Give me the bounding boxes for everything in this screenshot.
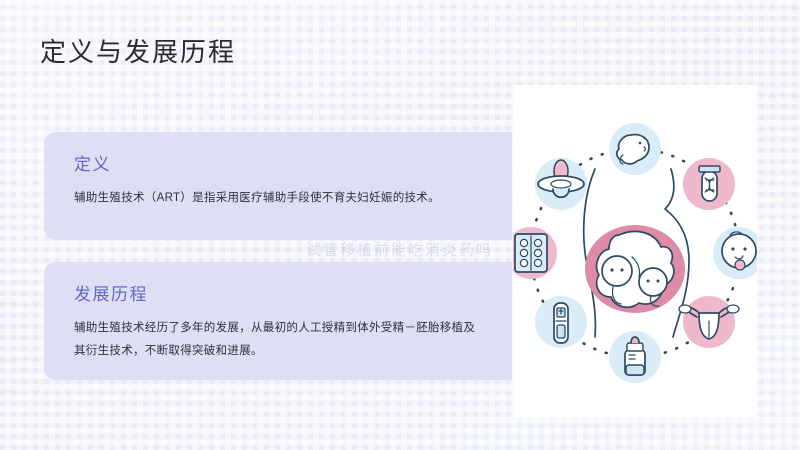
art-cycle-illustration: .ln { fill:none; stroke:#2c4a63; stroke-…: [513, 85, 757, 417]
card-body-history: 辅助生殖技术经历了多年的发展，从最初的人工授精到体外受精－胚胎移植及其衍生技术，…: [74, 317, 482, 363]
fetus-icon: [609, 123, 661, 175]
uterus-icon: [679, 296, 739, 348]
pregnancy-test-icon: [535, 296, 587, 348]
pregnant-belly-icon: [584, 169, 689, 337]
illustration-panel: .ln { fill:none; stroke:#2c4a63; stroke-…: [513, 85, 757, 417]
pill-blister-icon: [513, 227, 557, 279]
slide-canvas: 定义与发展历程 定义 辅助生殖技术（ART）是指采用医疗辅助手段使不育夫妇妊娠的…: [0, 0, 800, 450]
card-heading-history: 发展历程: [74, 280, 482, 305]
watermark-text: 试管移植前能吃消炎药吗: [306, 239, 493, 260]
content-card-definition: 定义 辅助生殖技术（ART）是指采用医疗辅助手段使不育夫妇妊娠的技术。: [44, 132, 512, 240]
dna-test-tube-icon: [683, 158, 735, 210]
page-title: 定义与发展历程: [40, 32, 236, 69]
card-body-definition: 辅助生殖技术（ART）是指采用医疗辅助手段使不育夫妇妊娠的技术。: [74, 187, 482, 210]
baby-bottle-icon: [609, 331, 661, 383]
pacifier-icon: [535, 158, 587, 210]
content-card-history: 发展历程 辅助生殖技术经历了多年的发展，从最初的人工授精到体外受精－胚胎移植及其…: [44, 262, 512, 380]
card-heading-definition: 定义: [74, 150, 482, 175]
baby-face-icon: [713, 227, 757, 279]
